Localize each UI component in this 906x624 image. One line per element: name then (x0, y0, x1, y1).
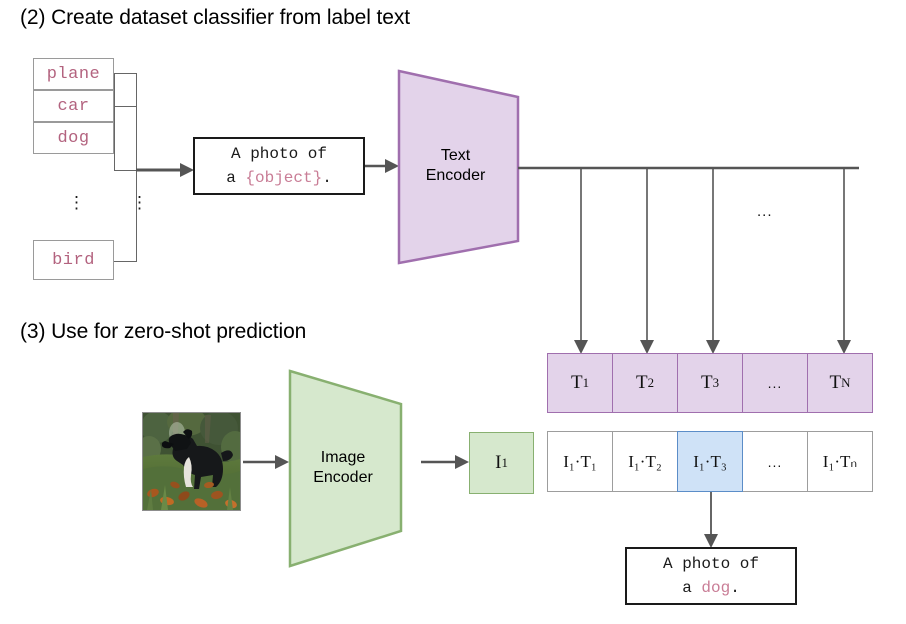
label-text: dog (57, 129, 89, 148)
cell-subscript: 3 (713, 375, 719, 391)
result-line-2-suffix: . (730, 579, 740, 597)
dot-product-text: I₁·T₁ (563, 452, 597, 472)
cell-subscript: 2 (648, 375, 654, 391)
arrow-labels-to-prompt (136, 160, 196, 182)
cell-base: ... (768, 375, 783, 391)
connector-bus-inner-b (114, 106, 115, 170)
result-line-1: A photo of (663, 552, 759, 576)
label-text: bird (52, 251, 95, 270)
figure-canvas: (2) Create dataset classifier from label… (0, 0, 906, 624)
input-photo (142, 412, 241, 511)
dot-product-cell-selected: I₁·T₃ (677, 431, 743, 492)
text-embedding-cell: T1 (547, 353, 613, 413)
arrow-selected-to-result (700, 492, 722, 550)
image-encoder-label-line2: Encoder (287, 468, 399, 488)
heading-step-3: (3) Use for zero-shot prediction (20, 320, 306, 344)
result-line-2-prefix: a (682, 579, 701, 597)
label-text: plane (47, 65, 101, 84)
prompt-line-2-prefix: a (226, 169, 245, 187)
result-predicted-label: dog (701, 579, 730, 597)
cell-base: T (636, 372, 648, 394)
image-embedding-subscript: 1 (501, 455, 507, 471)
dot-product-cell: I₁·Tₙ (807, 431, 873, 492)
connector-car (114, 106, 137, 107)
text-embeddings-row: T1 T2 T3 ... TN (547, 353, 873, 413)
arrow-image-encoder-to-i1 (421, 452, 471, 474)
label-box-car: car (33, 90, 114, 122)
prediction-result-box: A photo of a dog. (625, 547, 797, 605)
dot-product-text: I₁·T₃ (693, 452, 727, 472)
image-encoder-block: Image Encoder (287, 368, 427, 569)
text-embedding-cell: TN (807, 353, 873, 413)
label-text: car (57, 97, 89, 116)
vertical-ellipsis-labels: ⋮ (68, 200, 78, 205)
image-embedding-box: I1 (469, 432, 534, 494)
result-line-2: a dog. (682, 576, 740, 600)
label-box-plane: plane (33, 58, 114, 90)
dot-product-cell: I₁·T₁ (547, 431, 613, 492)
connector-stub-1 (114, 73, 137, 74)
prompt-line-2-suffix: . (322, 169, 332, 187)
image-encoder-label-line1: Image (287, 448, 399, 468)
cell-base: T (830, 372, 842, 394)
cell-subscript: N (841, 375, 850, 391)
text-embedding-cell-ellipsis: ... (742, 353, 808, 413)
dot-product-text: I₁·Tₙ (823, 452, 857, 472)
text-embedding-cell: T3 (677, 353, 743, 413)
cell-base: T (701, 372, 713, 394)
text-encoder-label: Text Encoder (396, 146, 515, 186)
dot-product-cell: I₁·T₂ (612, 431, 678, 492)
text-encoder-label-line1: Text (396, 146, 515, 166)
text-embedding-cell: T2 (612, 353, 678, 413)
arrow-photo-to-image-encoder (243, 452, 291, 474)
label-box-bird: bird (33, 240, 114, 280)
prompt-line-2: a {object}. (226, 166, 332, 190)
connector-dog (114, 170, 137, 171)
prompt-line-1: A photo of (231, 142, 327, 166)
connector-bird (114, 261, 137, 262)
photo-artwork (143, 413, 240, 510)
prompt-template-box: A photo of a {object}. (193, 137, 365, 195)
dot-product-text: I₁·T₂ (628, 452, 662, 472)
image-encoder-label: Image Encoder (287, 448, 399, 488)
heading-step-2: (2) Create dataset classifier from label… (20, 6, 410, 30)
dot-product-cell-ellipsis: ... (742, 431, 808, 492)
ellipsis-above-embeddings: ... (757, 203, 773, 220)
cell-subscript: 1 (583, 375, 589, 391)
dot-product-text: ... (768, 454, 783, 470)
prompt-variable: {object} (245, 169, 322, 187)
label-box-dog: dog (33, 122, 114, 154)
dot-product-row: I₁·T₁ I₁·T₂ I₁·T₃ ... I₁·Tₙ (547, 431, 873, 492)
connector-bus-inner-a (114, 73, 115, 106)
text-encoder-label-line2: Encoder (396, 166, 515, 186)
cell-base: T (571, 372, 583, 394)
text-embedding-fanout-arrows (515, 160, 890, 360)
